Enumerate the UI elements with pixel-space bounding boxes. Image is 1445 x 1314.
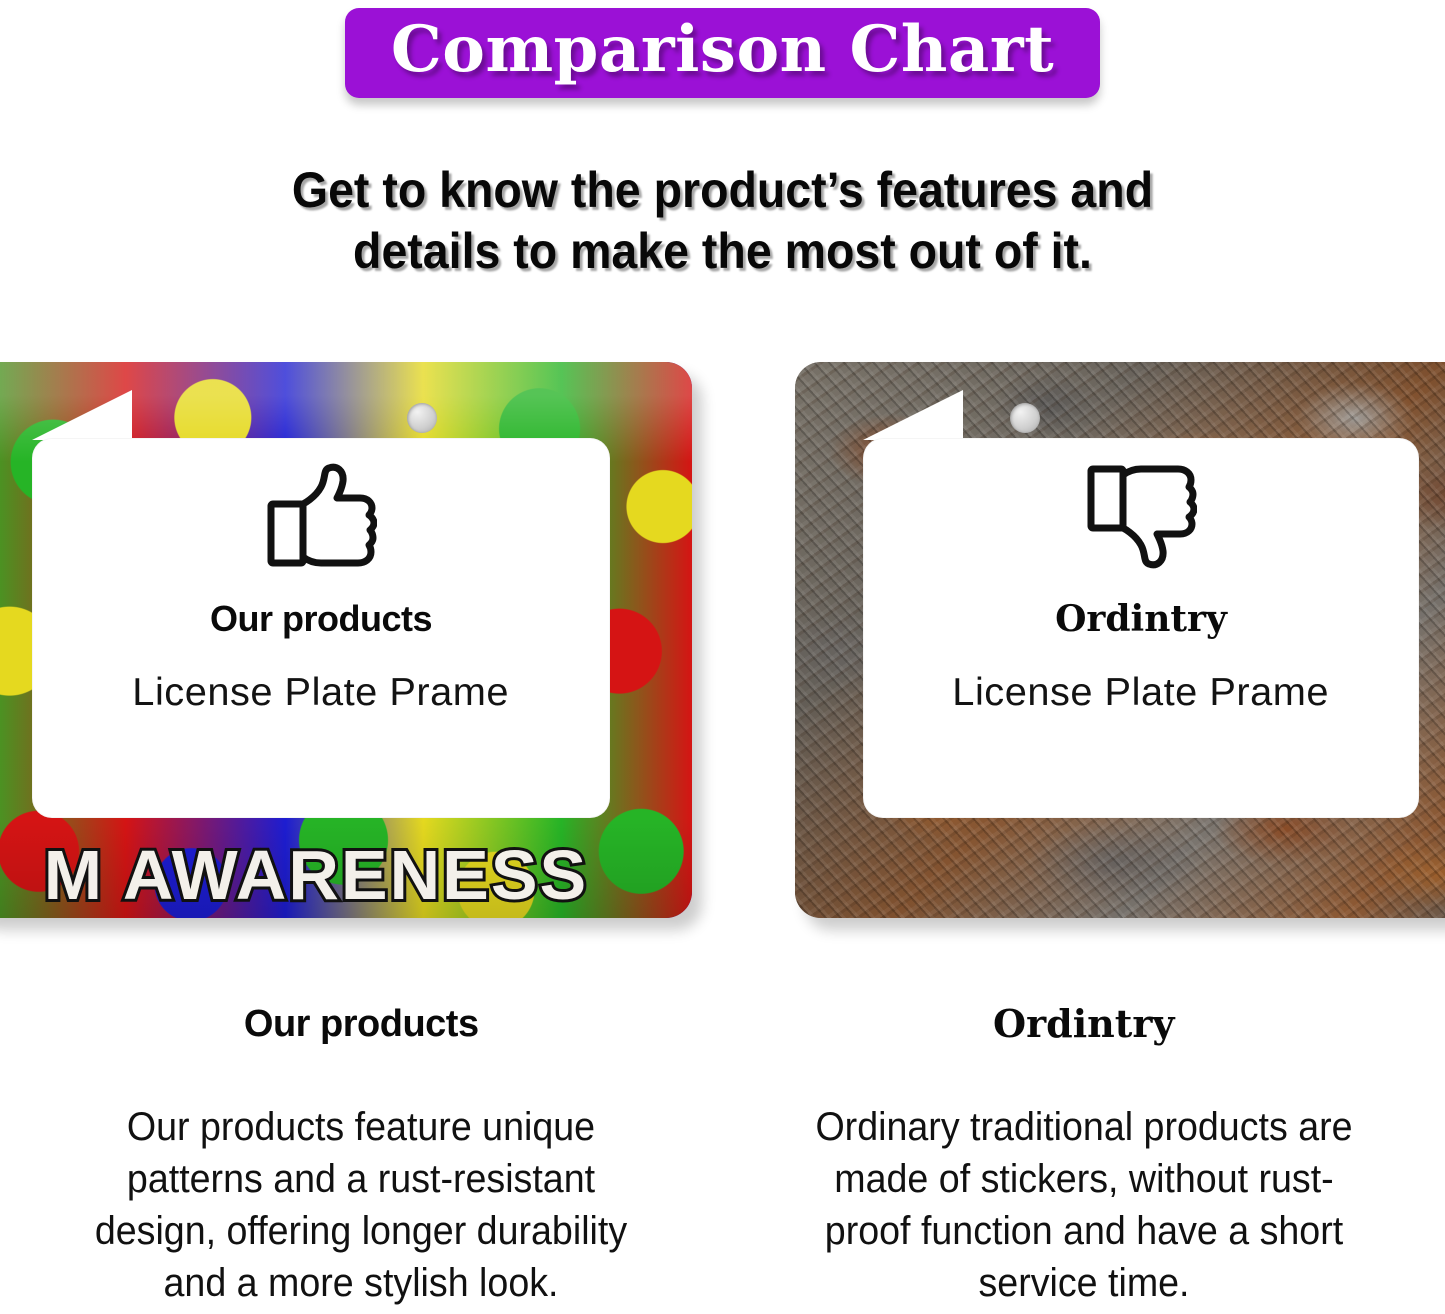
mounting-hole-icon <box>407 403 437 433</box>
column-body-ordinary: Ordinary traditional products are made o… <box>797 1101 1370 1309</box>
window-chamfer <box>863 390 963 440</box>
thumbs-up-icon <box>265 462 377 575</box>
mounting-hole-icon <box>1010 403 1040 433</box>
comparison-columns: Our products Our products feature unique… <box>0 995 1445 1314</box>
comparison-column-ordinary: Ordintry Ordinary traditional products a… <box>723 995 1445 1314</box>
subtitle: Get to know the product’s features and d… <box>51 160 1395 282</box>
thumbs-down-icon <box>1085 462 1197 575</box>
subtitle-line-1: Get to know the product’s features and <box>51 160 1395 221</box>
product-frame-ordinary: Ordintry License Plate Prame <box>795 362 1445 918</box>
title-banner: Comparison Chart <box>345 8 1100 98</box>
window-chamfer <box>32 390 132 440</box>
subtitle-line-2: details to make the most out of it. <box>51 221 1395 282</box>
plate-window-content: Our products License Plate Prame <box>32 438 610 818</box>
plate-window-ordinary: Ordintry License Plate Prame <box>863 438 1419 818</box>
plate-window-ours: Our products License Plate Prame <box>32 438 610 818</box>
plate-window-content: Ordintry License Plate Prame <box>863 438 1419 818</box>
frame-subheading-ours: License Plate Prame <box>133 673 510 712</box>
column-title-ordinary: Ordintry <box>723 1005 1445 1043</box>
column-title-ours: Our products <box>0 1005 723 1043</box>
title-banner-wrap: Comparison Chart <box>0 8 1445 98</box>
product-comparison-stage: M AWARENESS Our products License Plate P… <box>0 350 1445 930</box>
awareness-ribbon-text: M AWARENESS <box>0 840 676 910</box>
page-title: Comparison Chart <box>391 18 1054 82</box>
frame-heading-ours: Our products <box>210 601 432 637</box>
frame-heading-ordinary: Ordintry <box>1055 601 1227 637</box>
column-body-ours: Our products feature unique patterns and… <box>75 1101 648 1309</box>
frame-subheading-ordinary: License Plate Prame <box>953 673 1330 712</box>
product-frame-ours: M AWARENESS Our products License Plate P… <box>0 362 692 918</box>
comparison-column-ours: Our products Our products feature unique… <box>0 995 723 1314</box>
